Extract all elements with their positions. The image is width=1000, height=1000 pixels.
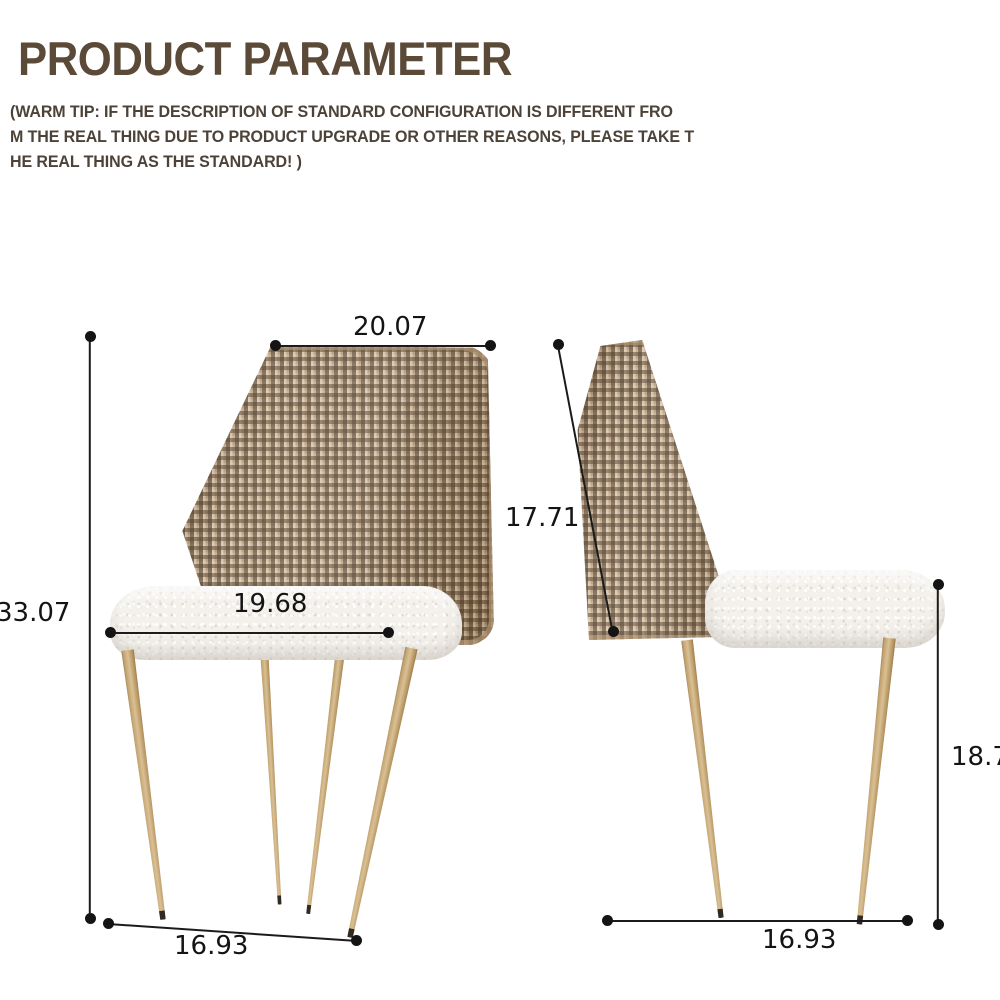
dimension-label-back-width: 20.07 [353, 312, 427, 342]
dimension-label-backrest-height: 17.71 [505, 503, 579, 533]
side-leg-front [680, 639, 728, 919]
chair-leg-front-right [343, 646, 419, 939]
chair-leg-back-left [258, 640, 285, 905]
dimension-label-side-leg-span: 16.93 [762, 925, 836, 955]
dimension-label-overall-height: 33.07 [0, 598, 70, 628]
dimension-label-seat-height: 18.7 [951, 742, 1000, 772]
side-seat-cushion [705, 570, 945, 648]
chair-leg-front-left [120, 649, 170, 921]
chair-side-view [560, 0, 1000, 1000]
side-leg-back [852, 637, 897, 925]
chair-leg-back-right [302, 637, 348, 914]
dimension-label-front-leg-span: 16.93 [174, 931, 248, 961]
dimension-label-seat-width: 19.68 [233, 589, 307, 619]
chair-front-view [0, 0, 520, 1000]
product-parameter-page: PRODUCT PARAMETER (WARM TIP: IF THE DESC… [0, 0, 1000, 1000]
